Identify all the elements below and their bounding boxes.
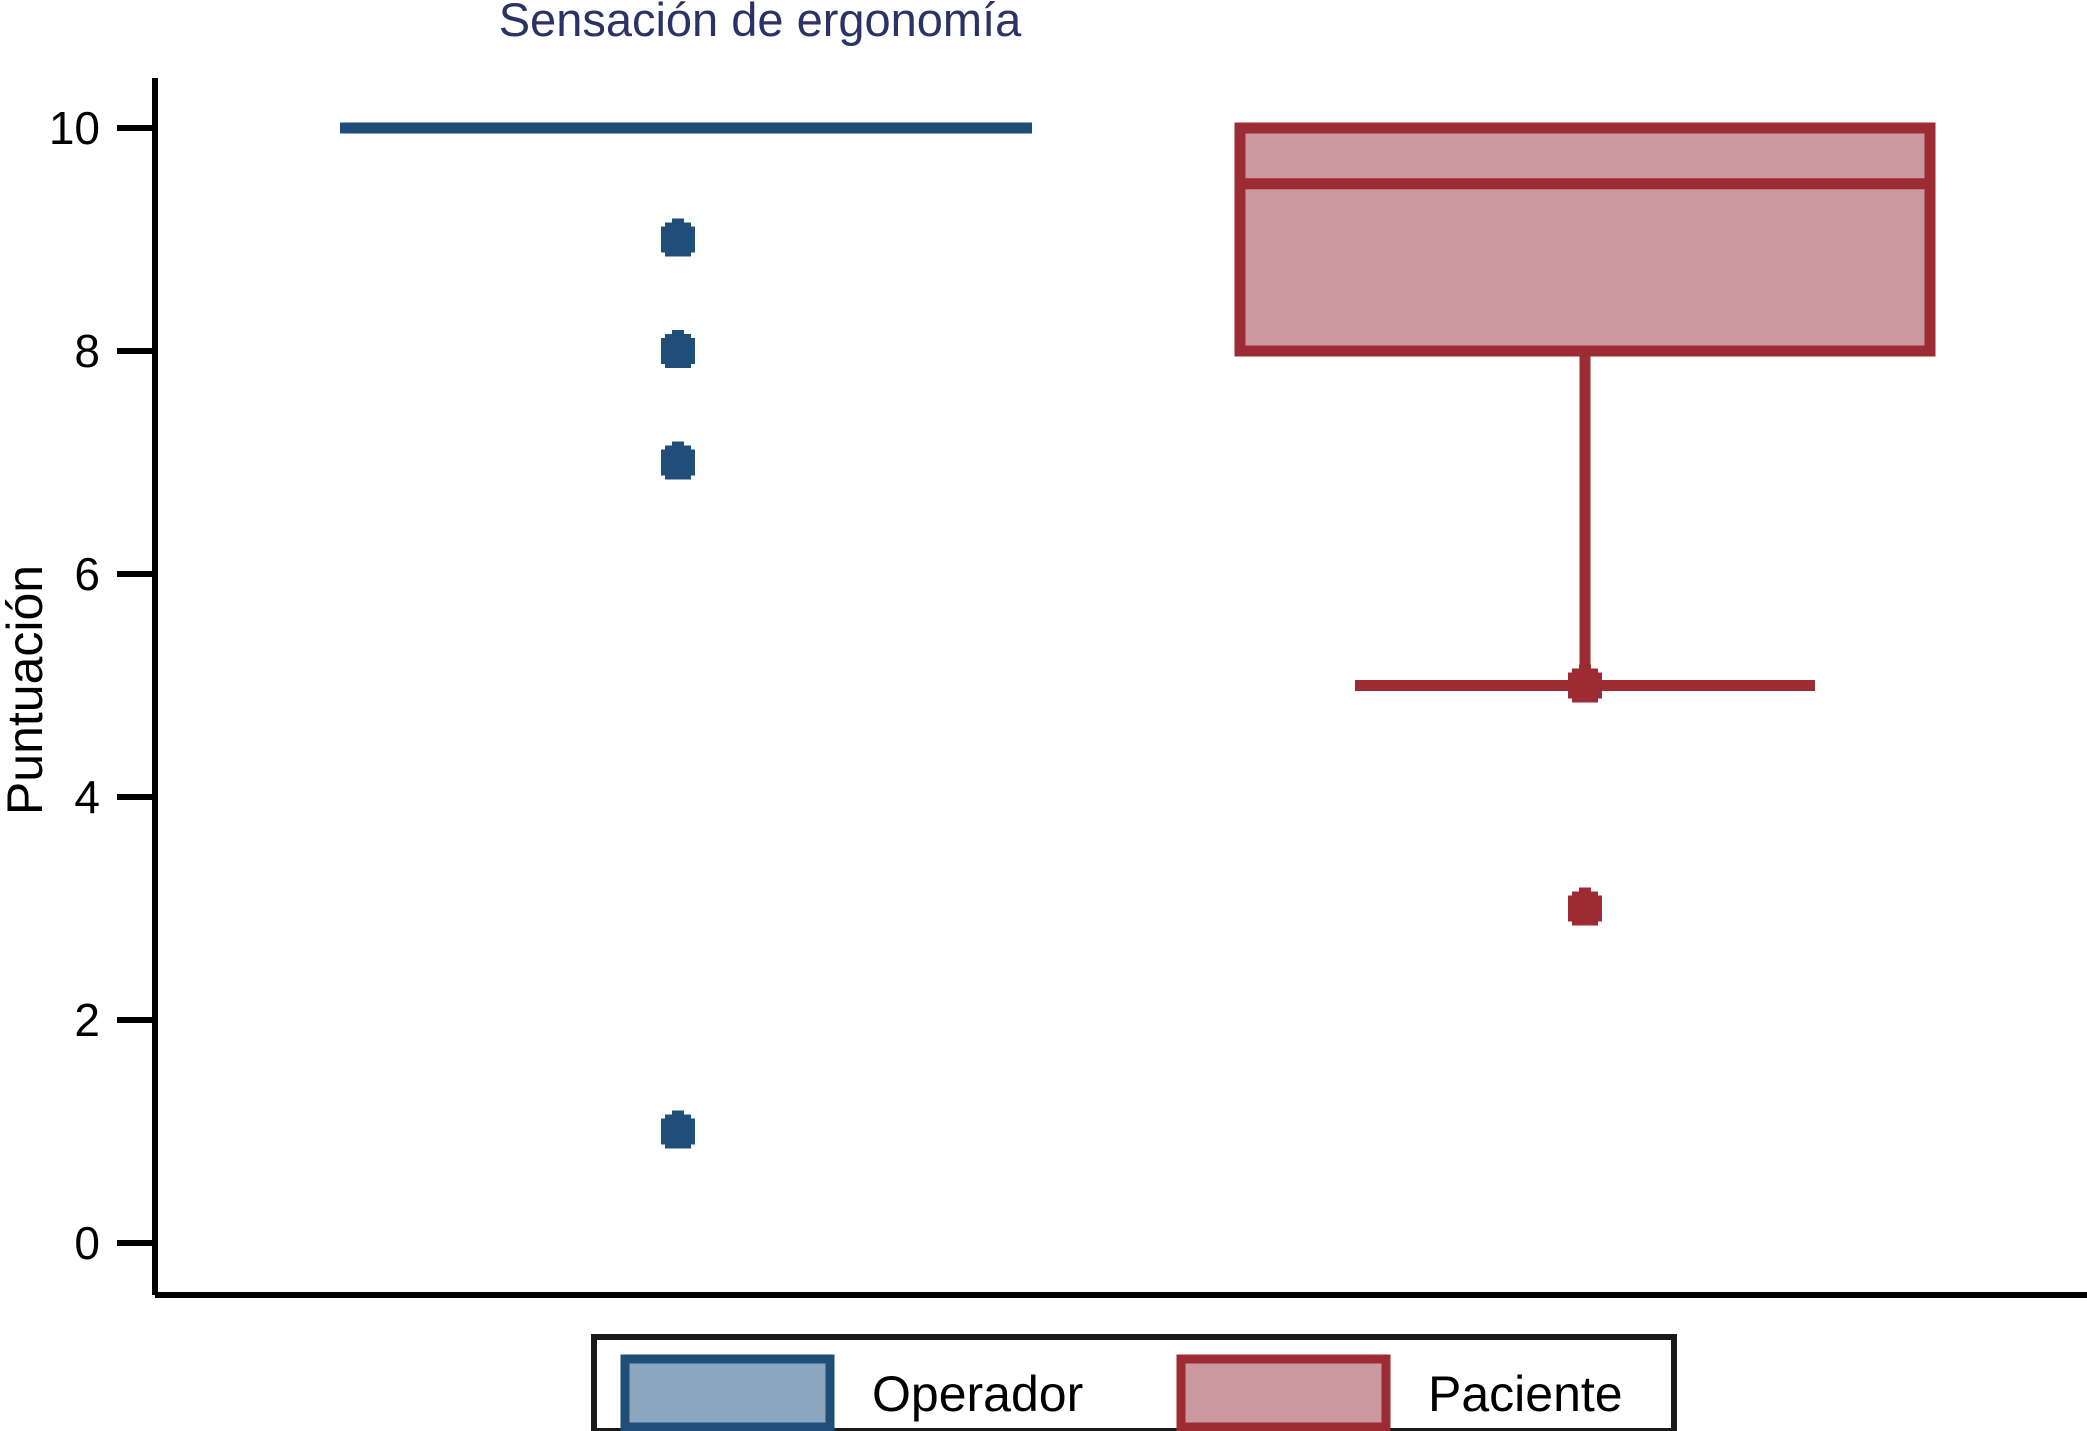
outlier-paciente-1-nub — [1579, 888, 1591, 896]
chart-canvas: Sensación de ergonomía 0246810 Puntuació… — [0, 0, 2087, 1431]
outlier-operador-0-nub — [672, 219, 684, 227]
y-tick-label-6: 6 — [74, 548, 100, 600]
outlier-operador-1[interactable] — [661, 330, 695, 368]
y-tick-label-8: 8 — [74, 325, 100, 377]
outlier-paciente-1-h — [1568, 896, 1602, 922]
outlier-operador-1-nub — [672, 330, 684, 338]
y-tick-label-10: 10 — [49, 102, 100, 154]
y-tick-label-0: 0 — [74, 1217, 100, 1269]
legend-swatch-operador[interactable] — [625, 1359, 830, 1427]
outlier-operador-2-h — [661, 450, 695, 476]
outlier-paciente-0[interactable] — [1568, 665, 1602, 703]
outlier-paciente-1[interactable] — [1568, 888, 1602, 926]
legend-item-paciente[interactable]: Paciente — [1428, 1366, 1623, 1422]
outlier-operador-3[interactable] — [661, 1111, 695, 1149]
outlier-paciente-0-h — [1568, 673, 1602, 699]
legend-item-operador[interactable]: Operador — [872, 1366, 1083, 1422]
box-body-paciente[interactable] — [1240, 128, 1930, 351]
boxplot-figure: Sensación de ergonomía 0246810 Puntuació… — [0, 0, 2087, 1431]
outlier-operador-3-h — [661, 1119, 695, 1145]
outlier-operador-0-h — [661, 227, 695, 253]
outlier-operador-1-h — [661, 338, 695, 364]
outlier-operador-3-nub — [672, 1111, 684, 1119]
chart-title: Sensación de ergonomía — [499, 0, 1022, 46]
legend-swatch-paciente[interactable] — [1181, 1359, 1386, 1427]
y-tick-label-2: 2 — [74, 994, 100, 1046]
y-tick-label-4: 4 — [74, 771, 100, 823]
outlier-paciente-0-nub — [1579, 665, 1591, 673]
outlier-operador-2[interactable] — [661, 442, 695, 480]
y-axis-title: Puntuación — [0, 565, 53, 815]
outlier-operador-0[interactable] — [661, 219, 695, 257]
outlier-operador-2-nub — [672, 442, 684, 450]
legend[interactable]: OperadorPaciente — [594, 1337, 1674, 1431]
